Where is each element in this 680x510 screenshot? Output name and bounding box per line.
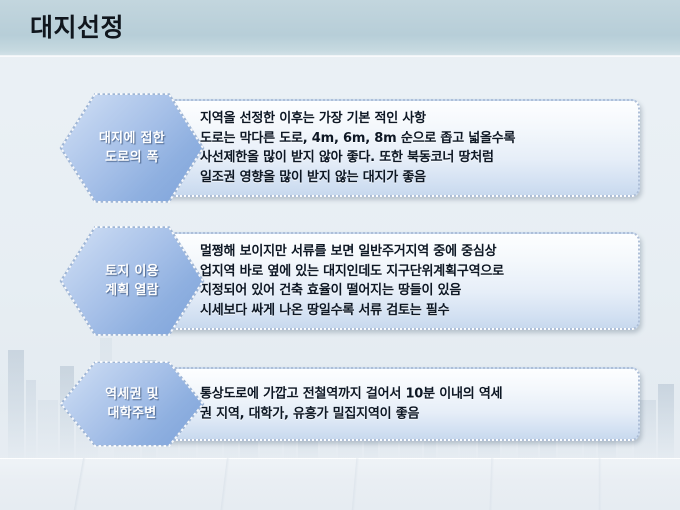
content-panel-1: 지역올 선정한 이후는 가장 기본 적인 사항 도로는 막다른 도로, 4m, … bbox=[150, 99, 640, 197]
ground-band-decoration bbox=[0, 458, 680, 510]
category-tag-3-label: 역세권 및 대학주변 bbox=[62, 363, 202, 445]
content-row-2: 멀쩡해 보이지만 서류를 보면 일반주거지역 중에 중심상 업지역 바로 옆에 … bbox=[0, 228, 680, 334]
content-panel-3: 통상도로에 가깝고 전철역까지 걸어서 10분 이내의 역세 권 지역, 대학가… bbox=[150, 367, 640, 441]
content-row-1: 지역올 선정한 이후는 가장 기본 적인 사항 도로는 막다른 도로, 4m, … bbox=[0, 95, 680, 201]
content-panel-2: 멀쩡해 보이지만 서류를 보면 일반주거지역 중에 중심상 업지역 바로 옆에 … bbox=[150, 232, 640, 330]
presentation-slide: 대지선정 지역올 선정한 이후는 가장 기본 적인 사항 도로는 막다른 도로,… bbox=[0, 0, 680, 510]
page-title: 대지선정 bbox=[30, 12, 124, 44]
category-tag-1[interactable]: 대지에 접한 도로의 폭 bbox=[62, 95, 202, 201]
category-tag-1-label: 대지에 접한 도로의 폭 bbox=[62, 95, 202, 201]
content-panel-2-text: 멀쩡해 보이지만 서류를 보면 일반주거지역 중에 중심상 업지역 바로 옆에 … bbox=[200, 242, 622, 320]
category-tag-2[interactable]: 토지 이용 계획 열람 bbox=[62, 228, 202, 334]
content-row-3: 통상도로에 가깝고 전철역까지 걸어서 10분 이내의 역세 권 지역, 대학가… bbox=[0, 363, 680, 445]
slide-header-band: 대지선정 bbox=[0, 0, 680, 57]
category-tag-3[interactable]: 역세권 및 대학주변 bbox=[62, 363, 202, 445]
content-panel-3-text: 통상도로에 가깝고 전철역까지 걸어서 10분 이내의 역세 권 지역, 대학가… bbox=[200, 385, 622, 424]
content-panel-1-text: 지역올 선정한 이후는 가장 기본 적인 사항 도로는 막다른 도로, 4m, … bbox=[200, 109, 622, 187]
category-tag-2-label: 토지 이용 계획 열람 bbox=[62, 228, 202, 334]
